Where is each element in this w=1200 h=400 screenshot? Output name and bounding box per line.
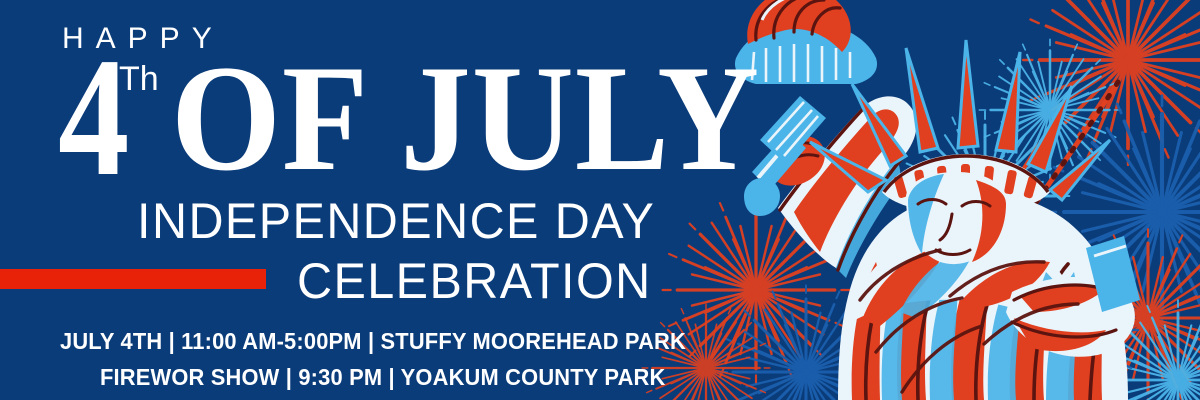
headline-number: 4 <box>58 56 128 178</box>
event-detail-line-2: FIREWOR SHOW | 9:30 PM | YOAKUM COUNTY P… <box>100 366 665 389</box>
headline-of-july: OF JULY <box>171 59 760 178</box>
event-detail-line-1: JULY 4TH | 11:00 AM-5:00PM | STUFFY MOOR… <box>60 330 686 353</box>
red-accent-bar <box>0 269 266 289</box>
headline-ordinal: Th <box>119 62 159 96</box>
subtitle-line-2: CELEBRATION <box>297 256 652 306</box>
text-layer: HAPPY 4 Th OF JULY INDEPENDENCE DAY CELE… <box>0 0 1200 400</box>
july-4th-banner: HAPPY 4 Th OF JULY INDEPENDENCE DAY CELE… <box>0 0 1200 400</box>
main-headline: 4 Th OF JULY <box>58 58 804 178</box>
subtitle-line-1: INDEPENDENCE DAY <box>137 196 655 246</box>
